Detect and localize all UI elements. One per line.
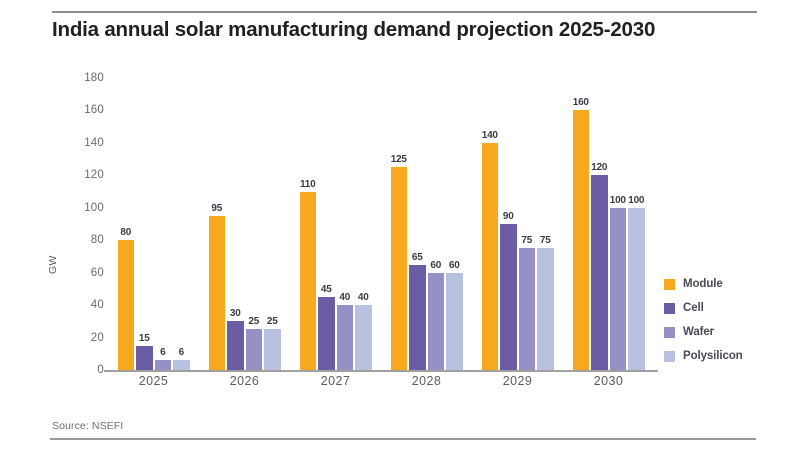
bar-group: 125656060 — [381, 78, 472, 370]
bar[interactable] — [537, 248, 554, 370]
bar-group-bars: 160120100100 — [573, 78, 645, 370]
bar-value-label: 60 — [430, 260, 441, 271]
bar-groups: 8015669530252511045404012565606014090757… — [108, 78, 654, 370]
bar-slot: 100 — [610, 78, 627, 370]
y-axis-tick-label: 180 — [0, 72, 104, 84]
bar-slot: 60 — [428, 78, 445, 370]
bar-group: 140907575 — [472, 78, 563, 370]
bar-value-label: 45 — [321, 284, 332, 295]
bar-value-label: 40 — [358, 292, 369, 303]
bar-group-bars: 95302525 — [209, 78, 281, 370]
legend-item-module[interactable]: Module — [664, 272, 794, 296]
bar-group-bars: 140907575 — [482, 78, 554, 370]
bar-group: 110454040 — [290, 78, 381, 370]
y-axis-tick-label: 120 — [0, 169, 104, 181]
bar-slot: 160 — [573, 78, 590, 370]
bar-group: 95302525 — [199, 78, 290, 370]
bar-group: 801566 — [108, 78, 199, 370]
x-axis-tick-label: 2028 — [381, 374, 472, 388]
legend-item-label: Wafer — [683, 326, 714, 338]
bar-slot: 6 — [173, 78, 190, 370]
legend-item-label: Polysilicon — [683, 350, 743, 362]
bar[interactable] — [628, 208, 645, 370]
bar-value-label: 80 — [120, 227, 131, 238]
bar-value-label: 30 — [230, 308, 241, 319]
bar-value-label: 100 — [628, 195, 644, 206]
plot-area: 8015669530252511045404012565606014090757… — [108, 78, 654, 370]
bar-value-label: 25 — [248, 316, 259, 327]
bar-group-bars: 125656060 — [391, 78, 463, 370]
bar[interactable] — [136, 346, 153, 370]
legend-item-label: Module — [683, 278, 723, 290]
chart-legend: ModuleCellWaferPolysilicon — [664, 272, 794, 368]
y-axis-tick-label: 20 — [0, 332, 104, 344]
y-axis-tick-label: 160 — [0, 104, 104, 116]
bar-slot: 75 — [537, 78, 554, 370]
footer-divider — [50, 438, 756, 440]
bar[interactable] — [446, 273, 463, 370]
bar[interactable] — [610, 208, 627, 370]
bar[interactable] — [355, 305, 372, 370]
x-axis-line — [104, 370, 658, 372]
bar-slot: 95 — [209, 78, 226, 370]
bar-value-label: 65 — [412, 252, 423, 263]
source-note: Source: NSEFI — [52, 420, 123, 432]
y-axis-tick-label: 100 — [0, 202, 104, 214]
bar[interactable] — [118, 240, 135, 370]
bar[interactable] — [573, 110, 590, 370]
y-axis-tick-label: 0 — [0, 364, 104, 376]
bar-group: 160120100100 — [563, 78, 654, 370]
bar-value-label: 6 — [160, 347, 165, 358]
bar-value-label: 160 — [573, 97, 589, 108]
bar-slot: 25 — [264, 78, 281, 370]
bar-value-label: 6 — [179, 347, 184, 358]
bar-value-label: 90 — [503, 211, 514, 222]
legend-swatch-icon — [664, 303, 675, 314]
x-axis-tick-label: 2030 — [563, 374, 654, 388]
y-axis-tick-label: 140 — [0, 137, 104, 149]
bar-value-label: 40 — [339, 292, 350, 303]
bar-value-label: 95 — [211, 203, 222, 214]
x-axis-tick-label: 2026 — [199, 374, 290, 388]
bar-slot: 125 — [391, 78, 408, 370]
bar-slot: 60 — [446, 78, 463, 370]
bar[interactable] — [246, 329, 263, 370]
bar[interactable] — [428, 273, 445, 370]
legend-item-label: Cell — [683, 302, 704, 314]
x-axis-tick-label: 2029 — [472, 374, 563, 388]
bar[interactable] — [409, 265, 426, 370]
bar-slot: 100 — [628, 78, 645, 370]
bar-slot: 120 — [591, 78, 608, 370]
bar-slot: 80 — [118, 78, 135, 370]
bar-group-bars: 110454040 — [300, 78, 372, 370]
bar-value-label: 15 — [139, 333, 150, 344]
bar-slot: 15 — [136, 78, 153, 370]
bar-value-label: 140 — [482, 130, 498, 141]
bar-slot: 25 — [246, 78, 263, 370]
bar[interactable] — [591, 175, 608, 370]
bar-slot: 140 — [482, 78, 499, 370]
bar[interactable] — [227, 321, 244, 370]
bar-group-bars: 801566 — [118, 78, 190, 370]
y-axis-tick-label: 40 — [0, 299, 104, 311]
legend-item-polysilicon[interactable]: Polysilicon — [664, 344, 794, 368]
bar-slot: 40 — [355, 78, 372, 370]
bar[interactable] — [300, 192, 317, 370]
bar-value-label: 60 — [449, 260, 460, 271]
bar[interactable] — [337, 305, 354, 370]
bar[interactable] — [155, 360, 172, 370]
y-axis-tick-label: 60 — [0, 267, 104, 279]
bar-slot: 65 — [409, 78, 426, 370]
bar-slot: 30 — [227, 78, 244, 370]
bar-value-label: 120 — [591, 162, 607, 173]
bar[interactable] — [500, 224, 517, 370]
bar-slot: 6 — [155, 78, 172, 370]
bar[interactable] — [482, 143, 499, 370]
x-axis-labels: 202520262027202820292030 — [108, 374, 654, 388]
bar[interactable] — [318, 297, 335, 370]
bar-slot: 90 — [500, 78, 517, 370]
legend-item-cell[interactable]: Cell — [664, 296, 794, 320]
bar-value-label: 100 — [610, 195, 626, 206]
bar[interactable] — [264, 329, 281, 370]
bar-value-label: 125 — [391, 154, 407, 165]
bar[interactable] — [209, 216, 226, 370]
y-axis-tick-label: 80 — [0, 234, 104, 246]
chart-page: India annual solar manufacturing demand … — [0, 0, 800, 455]
bar-slot: 40 — [337, 78, 354, 370]
x-axis-tick-label: 2025 — [108, 374, 199, 388]
page-title: India annual solar manufacturing demand … — [52, 18, 772, 42]
legend-item-wafer[interactable]: Wafer — [664, 320, 794, 344]
legend-swatch-icon — [664, 279, 675, 290]
bar[interactable] — [391, 167, 408, 370]
bar-value-label: 25 — [267, 316, 278, 327]
header-divider — [52, 11, 757, 13]
bar[interactable] — [173, 360, 190, 370]
bar-value-label: 75 — [521, 235, 532, 246]
bar[interactable] — [519, 248, 536, 370]
legend-swatch-icon — [664, 327, 675, 338]
bar-slot: 45 — [318, 78, 335, 370]
bar-value-label: 110 — [300, 179, 316, 190]
bar-value-label: 75 — [540, 235, 551, 246]
y-axis-ticks: 020406080100120140160180 — [0, 78, 104, 370]
legend-swatch-icon — [664, 351, 675, 362]
bar-slot: 110 — [300, 78, 317, 370]
x-axis-tick-label: 2027 — [290, 374, 381, 388]
bar-slot: 75 — [519, 78, 536, 370]
